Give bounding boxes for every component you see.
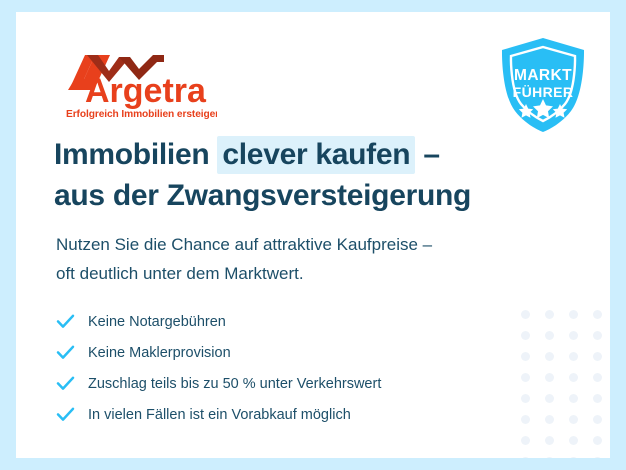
decoration-dot [593,331,602,340]
badge-line1: MARKT [514,67,572,84]
decoration-dot [545,457,554,458]
decoration-dot [593,310,602,319]
benefit-label: In vielen Fällen ist ein Vorabkauf mögli… [82,407,351,423]
check-icon [56,314,82,329]
decoration-dot [521,415,530,424]
badge-line2: FÜHRER [513,84,574,100]
benefit-item: In vielen Fällen ist ein Vorabkauf mögli… [56,399,516,430]
promo-banner: Argetra Erfolgreich Immobilien ersteiger… [0,0,626,470]
decoration-dot [593,436,602,445]
decoration-dot [593,457,602,458]
decoration-dot [569,373,578,382]
marktfuehrer-badge: MARKT FÜHRER [493,35,593,135]
decoration-dot [521,331,530,340]
decoration-dot [593,415,602,424]
decoration-dot [569,394,578,403]
decoration-dot [569,310,578,319]
decoration-dot [521,436,530,445]
benefit-label: Zuschlag teils bis zu 50 % unter Verkehr… [82,376,381,392]
benefit-label: Keine Notargebühren [82,314,226,330]
subheadline-line-2: oft deutlich unter dem Marktwert. [56,259,576,288]
decoration-dot [593,373,602,382]
decoration-dot [569,436,578,445]
decoration-dot [521,310,530,319]
argetra-logo-svg: Argetra Erfolgreich Immobilien ersteiger… [57,42,217,120]
benefit-item: Zuschlag teils bis zu 50 % unter Verkehr… [56,368,516,399]
decoration-dot [593,394,602,403]
headline-line-1: Immobilien clever kaufen – [54,134,574,175]
decoration-dot [521,352,530,361]
headline-line-2: aus der Zwangsversteigerung [54,175,574,216]
headline-text-after: – [415,138,439,171]
subheadline-line-1: Nutzen Sie die Chance auf attraktive Kau… [56,230,576,259]
decoration-dot [569,331,578,340]
decoration-dot [545,373,554,382]
page-subtitle: Nutzen Sie die Chance auf attraktive Kau… [56,230,576,288]
decoration-dot [545,310,554,319]
check-icon [56,345,82,360]
decoration-dot [521,394,530,403]
dot-grid-decoration [521,310,610,458]
headline-highlight: clever kaufen [217,136,415,174]
argetra-logo[interactable]: Argetra Erfolgreich Immobilien ersteiger… [57,42,217,120]
benefit-item: Keine Notargebühren [56,306,516,337]
decoration-dot [545,415,554,424]
decoration-dot [569,457,578,458]
decoration-dot [593,352,602,361]
decoration-dot [521,373,530,382]
benefit-item: Keine Maklerprovision [56,337,516,368]
decoration-dot [545,352,554,361]
argetra-wordmark: Argetra [85,72,207,110]
page-title: Immobilien clever kaufen – aus der Zwang… [54,134,574,216]
shield-icon: MARKT FÜHRER [493,35,593,135]
decoration-dot [545,394,554,403]
decoration-dot [545,436,554,445]
benefits-list: Keine NotargebührenKeine Maklerprovision… [56,306,516,430]
check-icon [56,376,82,391]
decoration-dot [545,331,554,340]
decoration-dot [521,457,530,458]
benefit-label: Keine Maklerprovision [82,345,231,361]
content-card: Argetra Erfolgreich Immobilien ersteiger… [16,12,610,458]
check-icon [56,407,82,422]
decoration-dot [569,352,578,361]
decoration-dot [569,415,578,424]
argetra-tagline: Erfolgreich Immobilien ersteigern [66,109,217,120]
headline-text-before: Immobilien [54,138,217,171]
